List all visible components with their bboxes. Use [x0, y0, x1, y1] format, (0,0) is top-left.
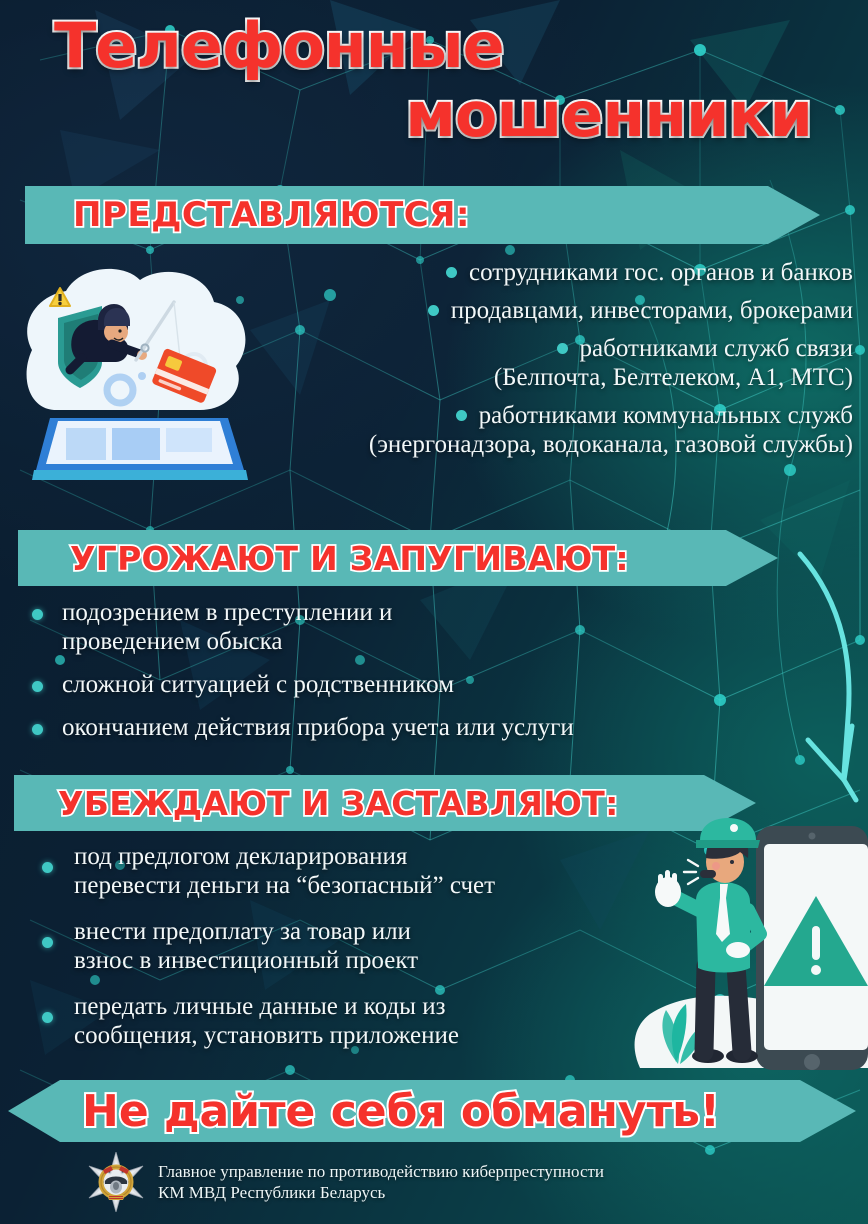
title-line-2: мошенники [34, 83, 834, 146]
section-list-2: подозрением в преступлении и проведением… [30, 598, 820, 756]
list-item: продавцами, инвесторами, брокерами [235, 296, 853, 325]
section-banner-2: УГРОЖАЮТ И ЗАПУГИВАЮТ: [18, 530, 778, 586]
police-warning-illustration [630, 818, 868, 1080]
phishing-illustration [14, 258, 264, 503]
tablet-icon [32, 418, 248, 480]
poster-title: Телефонные мошенники [0, 14, 868, 146]
list-item: внести предоплату за товар или взнос в и… [42, 917, 642, 975]
list-item-text: работниками служб связи [580, 335, 853, 362]
list-item: передать личные данные и коды из сообщен… [42, 992, 642, 1050]
list-item-subtext: сообщения, установить приложение [74, 1021, 642, 1050]
section-list-1: сотрудниками гос. органов и банков прода… [235, 258, 853, 468]
bullet-dot-icon [32, 724, 43, 735]
list-item-subtext: (Белпочта, Белтелеком, А1, МТС) [494, 364, 853, 391]
list-item: под предлогом декларирования перевести д… [42, 842, 642, 900]
bullet-dot-icon [42, 937, 53, 948]
list-item: работниками коммунальных служб (энергона… [235, 401, 853, 459]
section-banner-1: ПРЕДСТАВЛЯЮТСЯ: [25, 186, 820, 244]
poster-root: Телефонные мошенники [0, 0, 868, 1224]
list-item: сложной ситуацией с родственником [30, 670, 820, 699]
section-list-3: под предлогом декларирования перевести д… [42, 842, 642, 1067]
list-item-text: продавцами, инвесторами, брокерами [451, 297, 853, 324]
footer: Главное управление по противодействию ки… [88, 1152, 604, 1212]
footer-line-1: Главное управление по противодействию ки… [158, 1161, 604, 1182]
list-item-text: внести предоплату за товар или [74, 917, 642, 946]
list-item: подозрением в преступлении и проведением… [30, 598, 820, 656]
list-item-text: подозрением в преступлении и [62, 598, 820, 627]
list-item-subtext: проведением обыска [62, 627, 820, 656]
bullet-dot-icon [446, 267, 457, 278]
call-to-action-text: Не дайте себя обмануть! [82, 1086, 720, 1137]
list-item-text: окончанием действия прибора учета или ус… [62, 713, 820, 742]
call-to-action-banner: Не дайте себя обмануть! [8, 1080, 856, 1142]
list-item: работниками служб связи (Белпочта, Белте… [235, 334, 853, 392]
section-heading-1: ПРЕДСТАВЛЯЮТСЯ: [73, 195, 470, 235]
list-item-text: передать личные данные и коды из [74, 992, 642, 1021]
bullet-dot-icon [456, 410, 467, 421]
section-heading-2: УГРОЖАЮТ И ЗАПУГИВАЮТ: [70, 539, 629, 578]
list-item: сотрудниками гос. органов и банков [235, 258, 853, 287]
stop-hand-icon [655, 870, 681, 907]
list-item-text: сотрудниками гос. органов и банков [469, 259, 853, 286]
list-item-text: работниками коммунальных служб [479, 402, 853, 429]
list-item-subtext: взнос в инвестиционный проект [74, 946, 642, 975]
bullet-dot-icon [32, 609, 43, 620]
list-item-text: под предлогом декларирования [74, 842, 642, 871]
bullet-dot-icon [557, 343, 568, 354]
section-heading-3: УБЕЖДАЮТ И ЗАСТАВЛЯЮТ: [58, 784, 619, 823]
bullet-dot-icon [42, 1012, 53, 1023]
bullet-dot-icon [42, 862, 53, 873]
police-cap-icon [696, 818, 760, 848]
smartphone-icon [756, 826, 868, 1070]
list-item-text: сложной ситуацией с родственником [62, 670, 820, 699]
mvd-star-emblem-icon [88, 1152, 144, 1212]
bullet-dot-icon [32, 681, 43, 692]
footer-text-block: Главное управление по противодействию ки… [158, 1161, 604, 1204]
footer-line-2: КМ МВД Республики Беларусь [158, 1182, 604, 1203]
list-item-subtext: перевести деньги на “безопасный” счет [74, 871, 642, 900]
list-item-subtext: (энергонадзора, водоканала, газовой служ… [369, 431, 853, 458]
title-line-1: Телефонные [34, 14, 834, 77]
list-item: окончанием действия прибора учета или ус… [30, 713, 820, 742]
bullet-dot-icon [428, 305, 439, 316]
